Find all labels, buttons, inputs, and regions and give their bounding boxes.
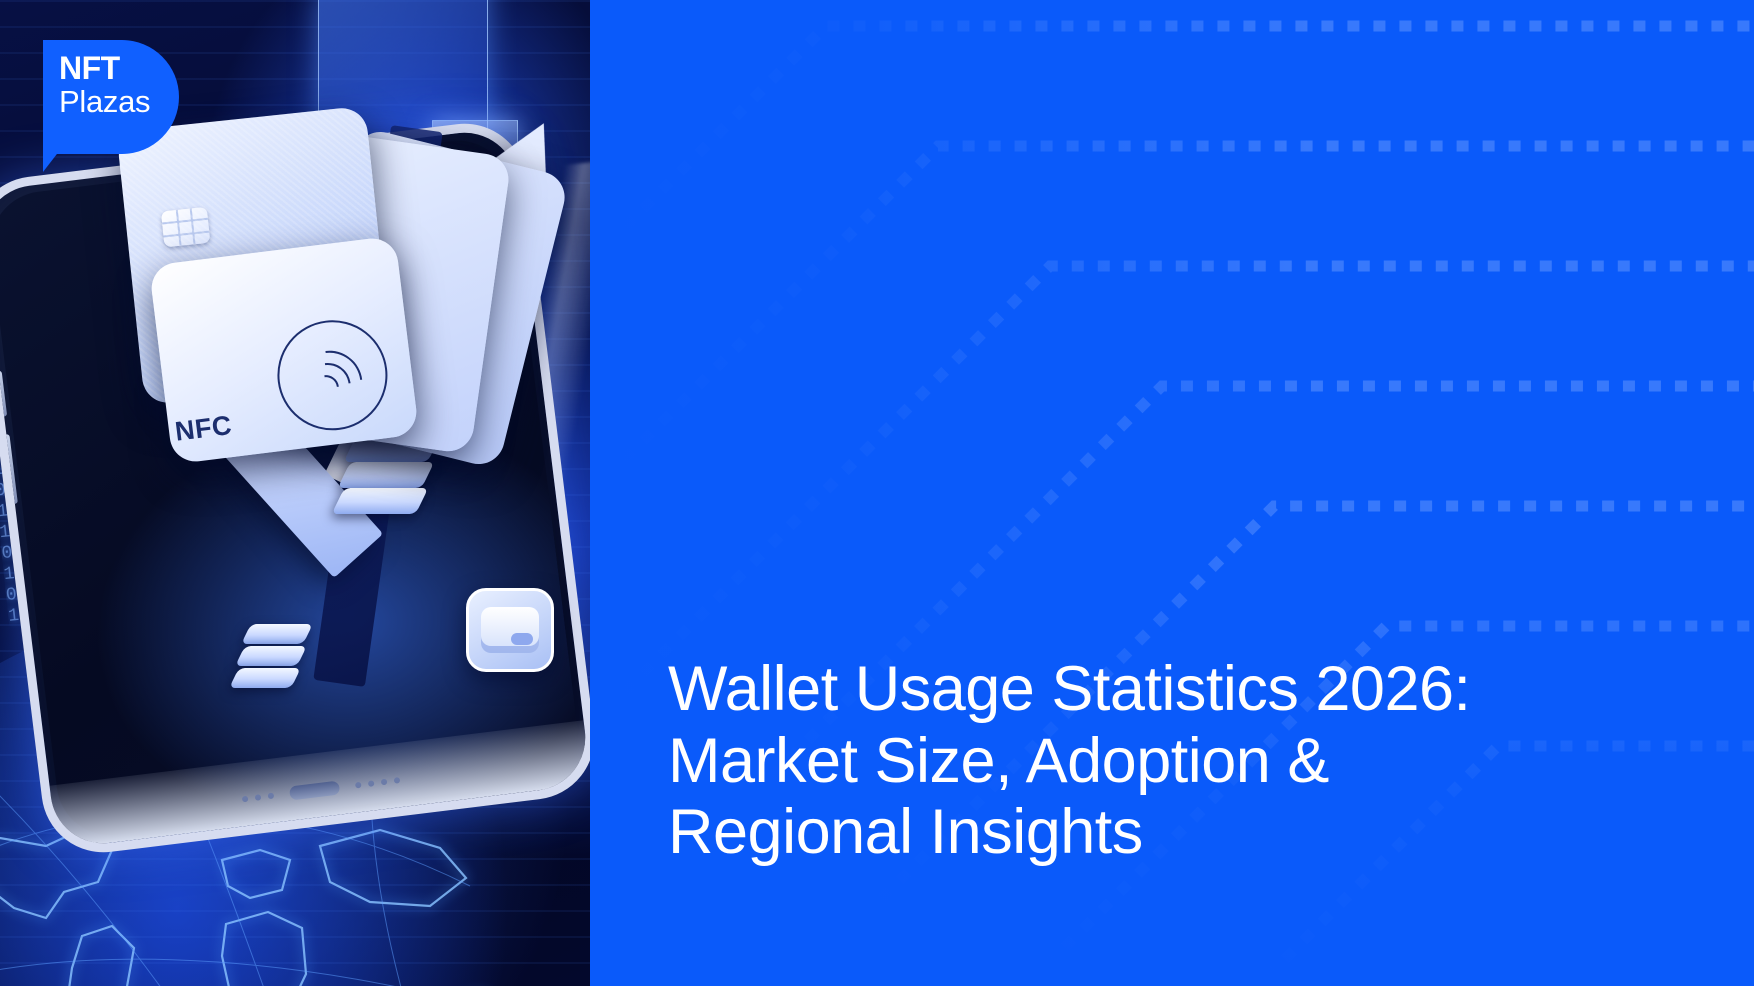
page-title: Wallet Usage Statistics 2026: Market Siz…	[668, 654, 1668, 868]
logo-bubble-tail	[43, 128, 77, 172]
title-panel: Wallet Usage Statistics 2026: Market Siz…	[590, 0, 1754, 986]
article-banner: 1 0 1 0 1 0 1 1 0 0 1 1 1 0 1 0 0 1 1 1 …	[0, 0, 1754, 986]
nfc-contactless-card: NFC	[149, 236, 420, 465]
stacked-coin	[241, 624, 313, 644]
page-title-line-1: Wallet Usage Statistics 2026:	[668, 654, 1668, 725]
stacked-coin	[229, 668, 301, 688]
emv-chip-icon	[161, 207, 211, 248]
stacked-coin	[235, 646, 307, 666]
page-title-line-3: Regional Insights	[668, 797, 1668, 868]
logo-line-plazas: Plazas	[59, 86, 150, 117]
wallet-icon	[466, 588, 554, 672]
stacked-coin	[332, 488, 429, 514]
nft-plazas-logo[interactable]: NFT Plazas	[43, 40, 179, 154]
nfc-label: NFC	[173, 410, 233, 448]
logo-line-nft: NFT	[59, 52, 150, 84]
stacked-coin	[338, 462, 435, 488]
page-title-line-2: Market Size, Adoption &	[668, 726, 1668, 797]
logo-wordmark: NFT Plazas	[59, 52, 150, 117]
